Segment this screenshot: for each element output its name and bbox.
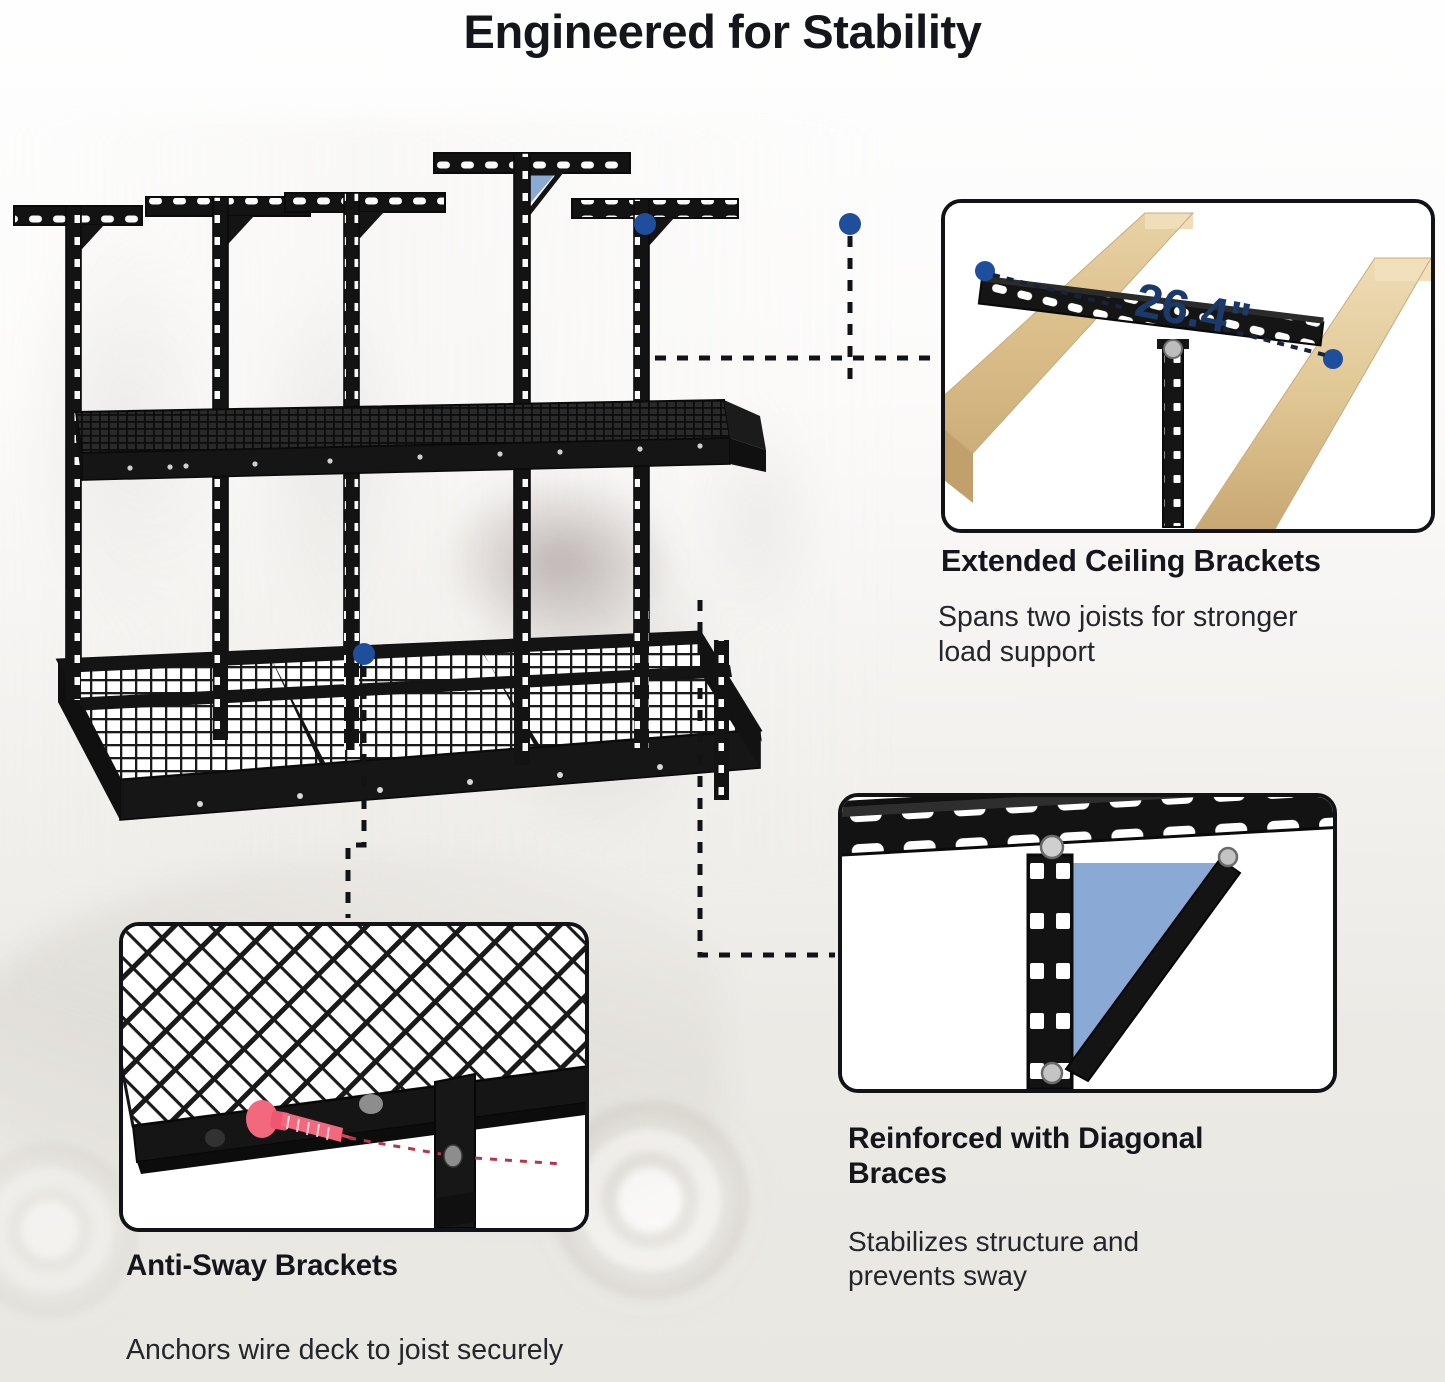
- feature-body-anti-sway-brackets: Anchors wire deck to joist securely: [126, 1333, 746, 1368]
- bolt-bottom: [1042, 1063, 1062, 1083]
- feature-title-reinforced-diagonal-braces: Reinforced with Diagonal Braces: [848, 1122, 1318, 1192]
- feature-body-line: prevents sway: [848, 1259, 1288, 1293]
- feature-body-extended-ceiling-brackets: Spans two joists for stronger load suppo…: [938, 600, 1418, 670]
- ceiling-bracket-joist-diagram: 26.4": [945, 203, 1431, 529]
- inset-panel-anti-sway-brackets: [119, 922, 589, 1232]
- product-rack-illustration: [0, 120, 900, 860]
- diagonal-brace-diagram: [842, 797, 1333, 1089]
- feature-body-reinforced-diagonal-braces: Stabilizes structure and prevents sway: [848, 1225, 1288, 1293]
- rail-hole: [359, 1094, 383, 1114]
- infographic-canvas: Engineered for Stability: [0, 0, 1445, 1382]
- center-bolt: [1164, 340, 1182, 358]
- bolt-brace-top: [1219, 848, 1237, 866]
- dimension-marker-left: [975, 261, 995, 281]
- feature-body-line: load support: [938, 635, 1418, 670]
- feature-title-line: Braces: [848, 1157, 1318, 1192]
- feature-title-line: Reinforced with Diagonal: [848, 1122, 1318, 1157]
- post-hole: [444, 1145, 462, 1167]
- inset-panel-diagonal-braces: [838, 793, 1337, 1093]
- inset-panel-extended-ceiling-brackets: 26.4": [941, 199, 1435, 533]
- feature-title-extended-ceiling-brackets: Extended Ceiling Brackets: [941, 544, 1445, 579]
- bolt-top: [1041, 836, 1063, 858]
- feature-body-line: Spans two joists for stronger: [938, 600, 1418, 635]
- page-title: Engineered for Stability: [0, 4, 1445, 59]
- vertical-upright: [1028, 855, 1072, 1089]
- lower-shelf: [58, 632, 762, 820]
- feature-body-line: Stabilizes structure and: [848, 1225, 1288, 1259]
- dimension-marker-right: [1323, 349, 1343, 369]
- feature-title-anti-sway-brackets: Anti-Sway Brackets: [126, 1249, 646, 1283]
- anti-sway-bracket-diagram: [123, 926, 585, 1228]
- upper-shelf: [76, 400, 766, 480]
